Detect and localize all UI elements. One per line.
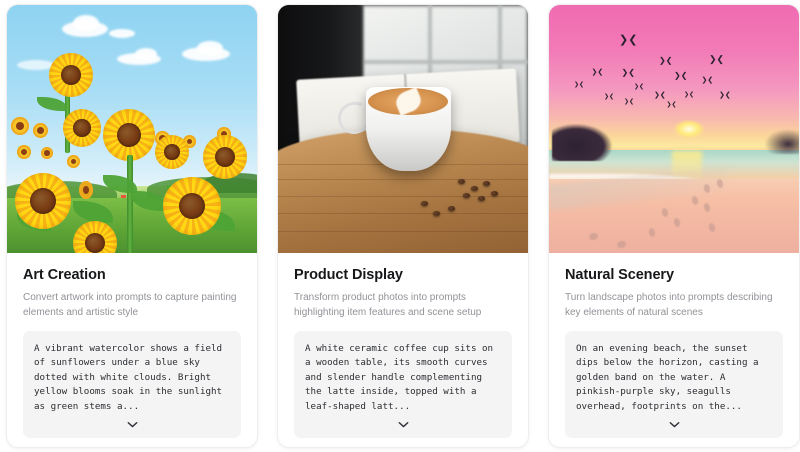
expand-prompt-button[interactable]: [305, 414, 501, 432]
card-art-creation[interactable]: Art Creation Convert artwork into prompt…: [6, 4, 258, 448]
card-product-display[interactable]: Product Display Transform product photos…: [277, 4, 529, 448]
card-body: Art Creation Convert artwork into prompt…: [7, 253, 257, 447]
card-subtitle: Turn landscape photos into prompts descr…: [565, 290, 783, 320]
card-subtitle: Transform product photos into prompts hi…: [294, 290, 512, 320]
card-subtitle: Convert artwork into prompts to capture …: [23, 290, 241, 320]
card-body: Product Display Transform product photos…: [278, 253, 528, 447]
card-title: Art Creation: [23, 267, 241, 283]
card-body: Natural Scenery Turn landscape photos in…: [549, 253, 799, 447]
card-gallery: Art Creation Convert artwork into prompt…: [0, 0, 800, 452]
chevron-down-icon: [127, 421, 138, 428]
card-natural-scenery[interactable]: ❯❮ ❯❮ ❯❮ ❯❮ ❯❮ ❯❮ ❯❮ ❯❮ ❯❮ ❯❮ ❯❮ ❯❮ ❯❮ ❯…: [548, 4, 800, 448]
prompt-text: A vibrant watercolor shows a field of su…: [34, 342, 230, 414]
prompt-preview-box[interactable]: A vibrant watercolor shows a field of su…: [23, 331, 241, 438]
seagull-icon: ❯❮: [619, 35, 637, 46]
prompt-text: On an evening beach, the sunset dips bel…: [576, 342, 772, 414]
card-image-sunflower-field: [7, 5, 257, 253]
chevron-down-icon: [398, 421, 409, 428]
prompt-preview-box[interactable]: On an evening beach, the sunset dips bel…: [565, 331, 783, 438]
card-title: Natural Scenery: [565, 267, 783, 283]
card-image-coffee-cup: [278, 5, 528, 253]
card-image-beach-sunset: ❯❮ ❯❮ ❯❮ ❯❮ ❯❮ ❯❮ ❯❮ ❯❮ ❯❮ ❯❮ ❯❮ ❯❮ ❯❮ ❯…: [549, 5, 799, 253]
prompt-preview-box[interactable]: A white ceramic coffee cup sits on a woo…: [294, 331, 512, 438]
expand-prompt-button[interactable]: [576, 414, 772, 432]
card-title: Product Display: [294, 267, 512, 283]
expand-prompt-button[interactable]: [34, 414, 230, 432]
chevron-down-icon: [669, 421, 680, 428]
prompt-text: A white ceramic coffee cup sits on a woo…: [305, 342, 501, 414]
